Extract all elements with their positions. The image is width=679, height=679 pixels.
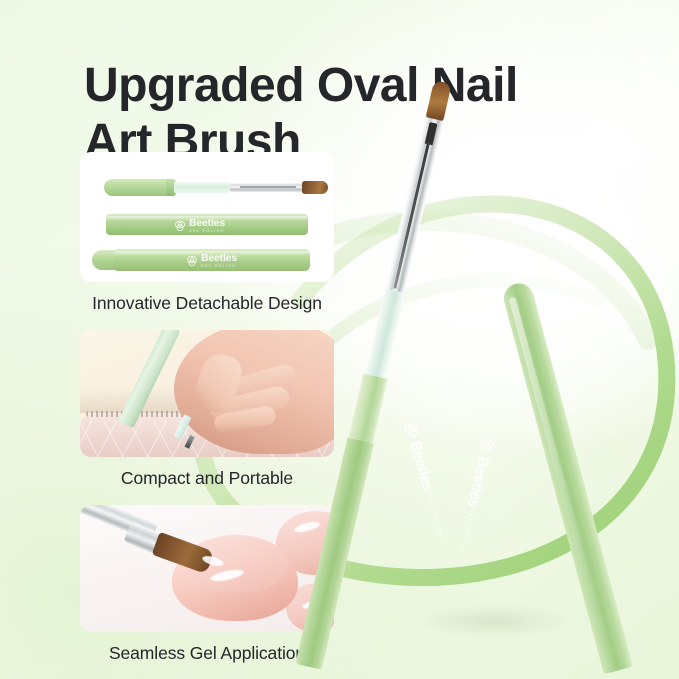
feature-image-gel-application [80,505,334,632]
feature-caption-gel-application: Seamless Gel Application [80,632,334,674]
brush-part-oval-bristles [302,181,328,194]
feature-item-detachable-design[interactable]: Beetles GEL POLISH Beetles GEL POLI [80,152,334,324]
brush-part-barrel [106,214,308,235]
feature-caption-detachable-design: Innovative Detachable Design [80,282,334,324]
brush-part-handle-body [114,249,310,271]
feature-item-compact-portable[interactable]: Compact and Portable [80,330,334,499]
feature-image-detachable-design: Beetles GEL POLISH Beetles GEL POLI [80,152,334,282]
brush-part-ferrule-line [240,186,296,188]
feature-item-gel-application[interactable]: Seamless Gel Application [80,505,334,674]
feature-image-compact-portable [80,330,334,457]
feature-list: Beetles GEL POLISH Beetles GEL POLI [80,152,334,679]
brush-part-collar [166,179,174,196]
product-poster: Upgraded Oval Nail Art Brush [0,0,679,679]
brush-part-clear-section [174,182,230,193]
feature-caption-compact-portable: Compact and Portable [80,457,334,499]
